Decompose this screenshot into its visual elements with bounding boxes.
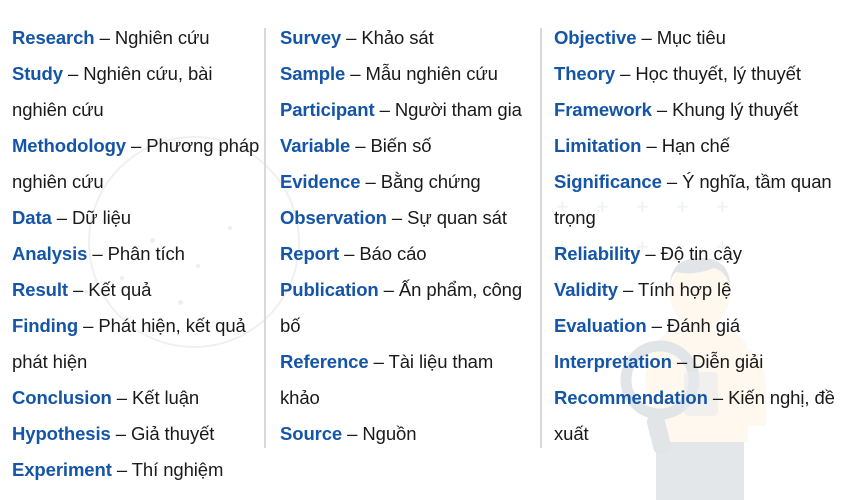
glossary-column-1: Research – Nghiên cứu Study – Nghiên cứu…: [0, 20, 266, 500]
glossary-entry: Interpretation – Diễn giải: [554, 344, 846, 380]
entry-term: Report: [280, 243, 339, 264]
glossary-entry: Result – Kết quả: [12, 272, 260, 308]
glossary-entry: Study – Nghiên cứu, bài nghiên cứu: [12, 56, 260, 128]
entry-term: Recommendation: [554, 387, 708, 408]
entry-dash: –: [117, 387, 127, 408]
entry-gloss: Độ tin cậy: [661, 243, 742, 264]
glossary-entry: Validity – Tính hợp lệ: [554, 272, 846, 308]
entry-term: Evidence: [280, 171, 360, 192]
column-divider-2: [540, 28, 542, 448]
glossary-entry: Variable – Biến số: [280, 128, 536, 164]
glossary-entry: Source – Nguồn: [280, 416, 536, 452]
entry-dash: –: [713, 387, 723, 408]
glossary-entry: Methodology – Phương pháp nghiên cứu: [12, 128, 260, 200]
glossary-entry: Finding – Phát hiện, kết quả phát hiện: [12, 308, 260, 380]
entry-term: Source: [280, 423, 342, 444]
entry-dash: –: [68, 63, 78, 84]
glossary-entry: Analysis – Phân tích: [12, 236, 260, 272]
entry-term: Reliability: [554, 243, 640, 264]
entry-dash: –: [116, 423, 126, 444]
entry-term: Limitation: [554, 135, 641, 156]
entry-dash: –: [350, 63, 360, 84]
entry-term: Conclusion: [12, 387, 112, 408]
glossary-column-2: Survey – Khảo sát Sample – Mẫu nghiên cứ…: [266, 20, 542, 500]
entry-gloss: Dữ liệu: [72, 207, 131, 228]
glossary-entry: Reference – Tài liệu tham khảo: [280, 344, 536, 416]
entry-dash: –: [677, 351, 687, 372]
entry-dash: –: [117, 459, 127, 480]
glossary-entry: Publication – Ấn phẩm, công bố: [280, 272, 536, 344]
entry-gloss: Học thuyết, lý thuyết: [635, 63, 801, 84]
entry-term: Variable: [280, 135, 350, 156]
entry-term: Result: [12, 279, 68, 300]
entry-gloss: Tính hợp lệ: [638, 279, 731, 300]
entry-gloss: Người tham gia: [395, 99, 522, 120]
glossary-entry: Research – Nghiên cứu: [12, 20, 260, 56]
entry-term: Analysis: [12, 243, 87, 264]
entry-gloss: Mục tiêu: [657, 27, 726, 48]
entry-term: Theory: [554, 63, 615, 84]
entry-dash: –: [346, 27, 356, 48]
glossary-entry: Participant – Người tham gia: [280, 92, 536, 128]
glossary-entry: Evaluation – Đánh giá: [554, 308, 846, 344]
entry-gloss: Biến số: [370, 135, 431, 156]
entry-dash: –: [646, 135, 656, 156]
entry-dash: –: [620, 63, 630, 84]
entry-gloss: Đánh giá: [667, 315, 740, 336]
entry-dash: –: [623, 279, 633, 300]
glossary-entry: Limitation – Hạn chế: [554, 128, 846, 164]
glossary-entry: Significance – Ý nghĩa, tầm quan trọng: [554, 164, 846, 236]
entry-dash: –: [641, 27, 651, 48]
glossary-entry: Conclusion – Kết luận: [12, 380, 260, 416]
entry-gloss: Bằng chứng: [381, 171, 481, 192]
entry-term: Methodology: [12, 135, 126, 156]
entry-dash: –: [131, 135, 141, 156]
entry-gloss: Diễn giải: [692, 351, 763, 372]
entry-term: Evaluation: [554, 315, 647, 336]
entry-term: Observation: [280, 207, 387, 228]
entry-gloss: Thí nghiệm: [132, 459, 224, 480]
glossary-entry: Survey – Khảo sát: [280, 20, 536, 56]
glossary-entry: Observation – Sự quan sát: [280, 200, 536, 236]
entry-term: Objective: [554, 27, 636, 48]
entry-dash: –: [384, 279, 394, 300]
glossary-columns: Research – Nghiên cứu Study – Nghiên cứu…: [0, 0, 850, 500]
entry-gloss: Giả thuyết: [131, 423, 214, 444]
entry-term: Research: [12, 27, 95, 48]
glossary-entry: Data – Dữ liệu: [12, 200, 260, 236]
entry-term: Framework: [554, 99, 652, 120]
entry-dash: –: [344, 243, 354, 264]
entry-term: Participant: [280, 99, 375, 120]
vocabulary-glossary-page: + + + + + + + + + + +: [0, 0, 850, 500]
entry-term: Finding: [12, 315, 78, 336]
column-divider-1: [264, 28, 266, 448]
entry-gloss: Sự quan sát: [407, 207, 507, 228]
entry-term: Experiment: [12, 459, 112, 480]
glossary-entry: Recommendation – Kiến nghị, đề xuất: [554, 380, 846, 452]
entry-gloss: Khung lý thuyết: [672, 99, 798, 120]
entry-gloss: Kết luận: [132, 387, 199, 408]
entry-gloss: Khảo sát: [361, 27, 433, 48]
entry-gloss: Nghiên cứu: [115, 27, 210, 48]
glossary-entry: Theory – Học thuyết, lý thuyết: [554, 56, 846, 92]
entry-dash: –: [380, 99, 390, 120]
glossary-entry: Objective – Mục tiêu: [554, 20, 846, 56]
entry-term: Publication: [280, 279, 379, 300]
entry-dash: –: [392, 207, 402, 228]
glossary-entry: Framework – Khung lý thuyết: [554, 92, 846, 128]
entry-dash: –: [667, 171, 677, 192]
entry-dash: –: [645, 243, 655, 264]
glossary-column-3: Objective – Mục tiêu Theory – Học thuyết…: [542, 20, 850, 500]
entry-term: Sample: [280, 63, 345, 84]
entry-gloss: Hạn chế: [662, 135, 730, 156]
entry-dash: –: [652, 315, 662, 336]
entry-dash: –: [73, 279, 83, 300]
entry-term: Study: [12, 63, 63, 84]
entry-dash: –: [355, 135, 365, 156]
entry-term: Reference: [280, 351, 369, 372]
glossary-entry: Report – Báo cáo: [280, 236, 536, 272]
entry-dash: –: [657, 99, 667, 120]
entry-dash: –: [347, 423, 357, 444]
entry-term: Validity: [554, 279, 618, 300]
entry-dash: –: [57, 207, 67, 228]
entry-term: Survey: [280, 27, 341, 48]
entry-dash: –: [374, 351, 384, 372]
glossary-entry: Evidence – Bằng chứng: [280, 164, 536, 200]
entry-gloss: Phân tích: [108, 243, 185, 264]
glossary-entry: Reliability – Độ tin cậy: [554, 236, 846, 272]
entry-gloss: Nguồn: [362, 423, 416, 444]
entry-term: Interpretation: [554, 351, 672, 372]
entry-dash: –: [83, 315, 93, 336]
entry-dash: –: [92, 243, 102, 264]
glossary-entry: Hypothesis – Giả thuyết: [12, 416, 260, 452]
entry-dash: –: [100, 27, 110, 48]
entry-gloss: Kết quả: [88, 279, 151, 300]
entry-term: Data: [12, 207, 52, 228]
entry-term: Significance: [554, 171, 662, 192]
glossary-entry: Experiment – Thí nghiệm: [12, 452, 260, 488]
entry-gloss: Báo cáo: [359, 243, 426, 264]
entry-gloss: Mẫu nghiên cứu: [366, 63, 498, 84]
entry-term: Hypothesis: [12, 423, 111, 444]
entry-dash: –: [365, 171, 375, 192]
glossary-entry: Sample – Mẫu nghiên cứu: [280, 56, 536, 92]
